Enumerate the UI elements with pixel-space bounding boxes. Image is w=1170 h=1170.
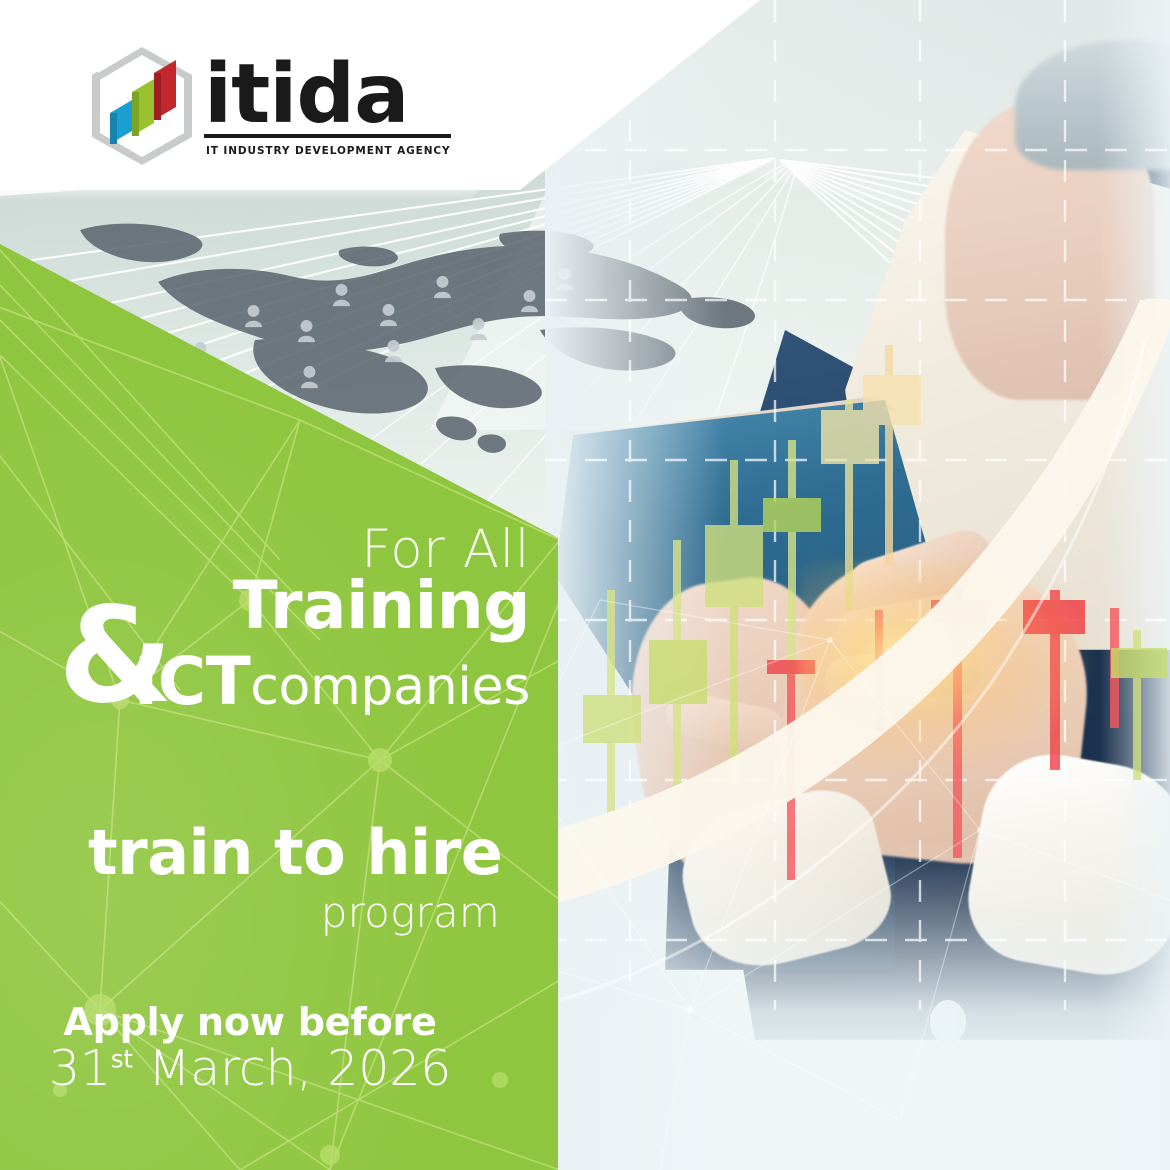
itida-tagline: IT INDUSTRY DEVELOPMENT AGENCY: [204, 145, 451, 157]
headline-ict: ICT: [134, 643, 251, 720]
itida-logo[interactable]: itida IT INDUSTRY DEVELOPMENT AGENCY: [88, 45, 378, 167]
itida-underline: [204, 134, 451, 138]
deadline-rest: March, 2026: [133, 1040, 451, 1097]
headline-training: Training: [0, 573, 530, 639]
headline-ict-line: ICTcompanies: [0, 649, 530, 715]
program-name: train to hire: [0, 822, 588, 884]
itida-hexagon-logo-icon: [88, 45, 196, 167]
cta-apply-label: Apply now before: [0, 1000, 500, 1044]
deadline-ordinal: st: [111, 1045, 133, 1074]
program-subtitle: program: [0, 888, 500, 937]
itida-word: itida: [204, 59, 451, 131]
deadline-day: 31: [49, 1040, 111, 1097]
cta-deadline: 31st March, 2026: [0, 1040, 500, 1097]
itida-wordmark: itida IT INDUSTRY DEVELOPMENT AGENCY: [204, 59, 451, 156]
headline-companies: companies: [250, 657, 530, 717]
poster-canvas: For All & Training ICTcompanies train to…: [0, 0, 1170, 1170]
